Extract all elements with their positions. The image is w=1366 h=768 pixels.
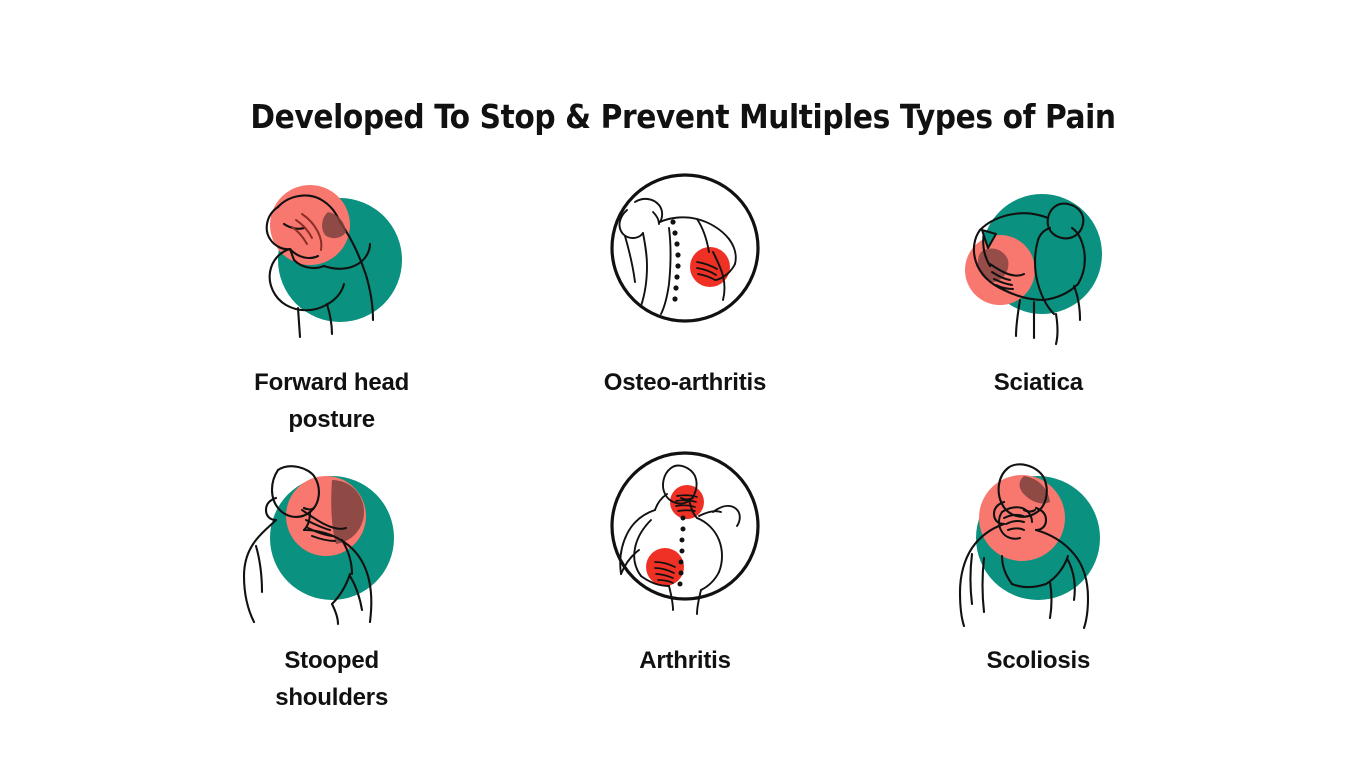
- pain-card-scoliosis[interactable]: Scoliosis: [862, 450, 1215, 720]
- pain-card-label: Scoliosis: [987, 642, 1091, 679]
- pain-card-label: Stooped shoulders: [232, 642, 432, 716]
- pain-card-label: Sciatica: [994, 364, 1083, 401]
- pain-card-label: Osteo-arthritis: [604, 364, 766, 401]
- circle-frame: [612, 175, 758, 321]
- pain-card-arthritis[interactable]: Arthritis: [508, 450, 861, 720]
- pain-card-label: Forward head posture: [232, 364, 432, 438]
- pain-types-grid: Forward head posture: [155, 172, 1215, 720]
- illustration-stooped-shoulders: [232, 450, 432, 628]
- pain-card-sciatica[interactable]: Sciatica: [862, 172, 1215, 442]
- illustration-forward-head-posture: [232, 172, 432, 350]
- illustration-osteo-arthritis: [585, 172, 785, 350]
- pain-card-label: Arthritis: [639, 642, 731, 679]
- page-title: Developed To Stop & Prevent Multiples Ty…: [0, 95, 1366, 139]
- pain-card-osteo-arthritis[interactable]: Osteo-arthritis: [508, 172, 861, 442]
- pain-card-forward-head-posture[interactable]: Forward head posture: [155, 172, 508, 442]
- illustration-sciatica: [938, 172, 1138, 350]
- illustration-arthritis: [585, 450, 785, 628]
- pain-card-stooped-shoulders[interactable]: Stooped shoulders: [155, 450, 508, 720]
- pain-types-infographic: Developed To Stop & Prevent Multiples Ty…: [0, 0, 1366, 768]
- illustration-scoliosis: [938, 450, 1138, 628]
